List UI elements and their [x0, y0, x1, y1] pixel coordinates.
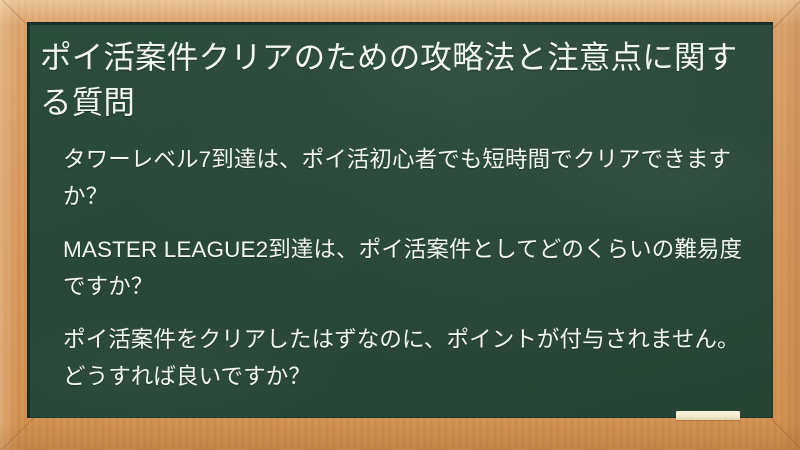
list-item: MASTER LEAGUE2到達は、ポイ活案件としてどのくらいの難易度ですか？: [40, 231, 757, 305]
chalk-stick: [676, 411, 740, 420]
list-item: ポイ活案件をクリアしたはずなのに、ポイントが付与されません。どうすれば良いですか…: [40, 321, 757, 395]
blackboard-graphic: ポイ活案件クリアのための攻略法と注意点に関する質問 タワーレベル7到達は、ポイ活…: [0, 0, 800, 450]
chalkboard-surface: ポイ活案件クリアのための攻略法と注意点に関する質問 タワーレベル7到達は、ポイ活…: [27, 22, 773, 418]
page-title: ポイ活案件クリアのための攻略法と注意点に関する質問: [40, 35, 757, 125]
board-content: ポイ活案件クリアのための攻略法と注意点に関する質問 タワーレベル7到達は、ポイ活…: [27, 22, 773, 418]
question-list: タワーレベル7到達は、ポイ活初心者でも短時間でクリアできますか？ MASTER …: [40, 141, 757, 395]
list-item: タワーレベル7到達は、ポイ活初心者でも短時間でクリアできますか？: [40, 141, 757, 215]
